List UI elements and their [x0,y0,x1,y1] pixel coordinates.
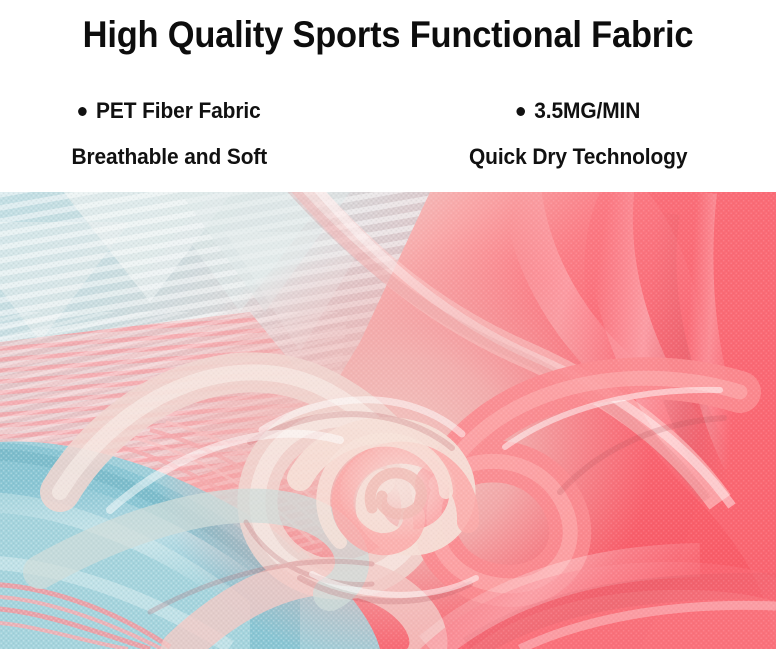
feature-item-1: PET Fiber Fabric Breathable and Soft [0,88,388,180]
page-title: High Quality Sports Functional Fabric [27,13,749,57]
feature-2-primary: 3.5MG/MIN [398,88,767,134]
feature-2-line2: Quick Dry Technology [398,134,767,180]
feature-1-primary: PET Fiber Fabric [10,88,379,134]
bullet-icon [78,107,87,116]
feature-list: PET Fiber Fabric Breathable and Soft 3.5… [0,88,776,180]
feature-2-line1: 3.5MG/MIN [534,88,640,134]
fabric-photo [0,192,776,649]
feature-1-line1: PET Fiber Fabric [96,88,261,134]
feature-1-line2: Breathable and Soft [10,134,379,180]
product-banner: High Quality Sports Functional Fabric PE… [0,0,776,649]
fabric-illustration [0,192,776,649]
bullet-icon [516,107,525,116]
header-block: High Quality Sports Functional Fabric PE… [0,0,776,192]
feature-item-2: 3.5MG/MIN Quick Dry Technology [388,88,776,180]
